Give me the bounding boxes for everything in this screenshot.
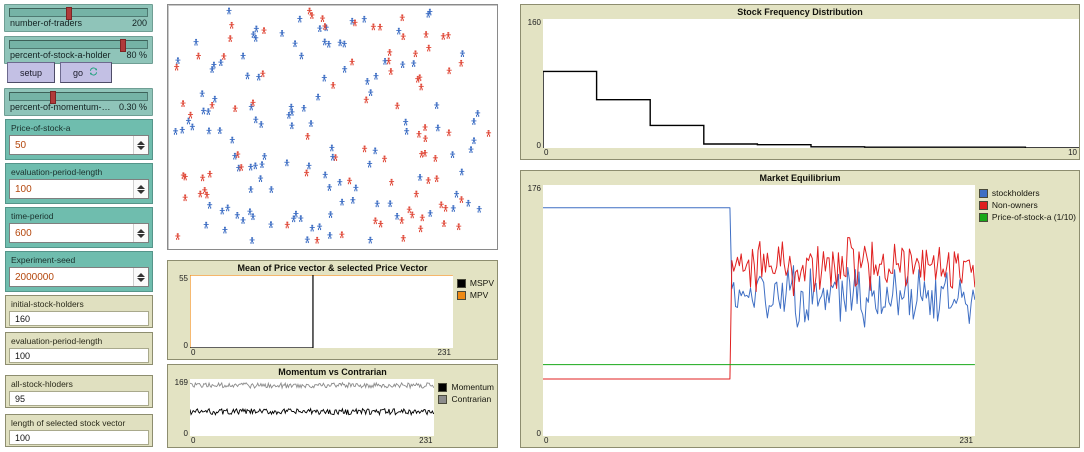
- legend-label: Momentum: [451, 382, 494, 392]
- x-axis-min: 0: [544, 436, 548, 445]
- input-label: evaluation-period-length: [9, 166, 149, 179]
- slider-number-of-traders[interactable]: number-of-traders 200: [4, 4, 153, 32]
- y-axis-labels: 55 0: [168, 275, 190, 348]
- slider-thumb[interactable]: [50, 91, 56, 104]
- go-button-label: go: [73, 68, 83, 78]
- y-axis-labels: 169 0: [168, 379, 190, 436]
- spinner-control[interactable]: [133, 180, 148, 198]
- input-field[interactable]: 50: [9, 135, 149, 155]
- y-axis-labels: 160 0: [521, 19, 543, 148]
- legend-swatch: [979, 213, 988, 222]
- spinner-up-icon[interactable]: [137, 185, 145, 189]
- legend-label: stockholders: [992, 188, 1040, 198]
- y-axis-min: 0: [537, 429, 541, 438]
- input-experiment-seed[interactable]: Experiment-seed 2000000: [5, 251, 153, 292]
- spinner-down-icon[interactable]: [137, 278, 145, 282]
- x-axis-max: 231: [419, 436, 432, 445]
- y-axis-max: 55: [179, 274, 188, 283]
- plot-canvas: [543, 185, 975, 436]
- slider-thumb[interactable]: [120, 39, 126, 52]
- plot-momentum-vs-contrarian: Momentum vs Contrarian 169 0 0 231: [167, 364, 498, 448]
- y-axis-labels: 176 0: [521, 185, 543, 436]
- legend-swatch: [457, 279, 466, 288]
- plot-legend: MSPV MPV: [453, 275, 497, 359]
- legend-item: Contrarian: [438, 394, 494, 404]
- spinner-control[interactable]: [133, 136, 148, 154]
- x-axis-max: 231: [438, 348, 451, 357]
- legend-item: MPV: [457, 290, 494, 300]
- x-axis-max: 231: [960, 436, 973, 445]
- spinner-down-icon[interactable]: [137, 190, 145, 194]
- monitor-label: all-stock-hloders: [9, 378, 149, 391]
- setup-button-label: setup: [20, 68, 42, 78]
- netlogo-model-interface: number-of-traders 200 percent-of-stock-a…: [0, 0, 1084, 452]
- input-label: Experiment-seed: [9, 254, 149, 267]
- forever-loop-icon: [88, 66, 99, 79]
- x-axis-labels: 0 10: [543, 148, 1079, 159]
- plot-canvas: [190, 275, 453, 348]
- input-label: time-period: [9, 210, 149, 223]
- slider-value: 200: [128, 18, 147, 28]
- y-axis-min: 0: [537, 141, 541, 150]
- spinner-control[interactable]: [133, 224, 148, 242]
- plot-title: Momentum vs Contrarian: [168, 365, 497, 379]
- spinner-up-icon[interactable]: [137, 273, 145, 277]
- slider-percent-of-momentum-per[interactable]: percent-of-momentum-per... 0.30 %: [4, 88, 153, 116]
- legend-label: Price-of-stock-a (1/10): [992, 212, 1076, 222]
- slider-track[interactable]: [9, 8, 148, 17]
- legend-swatch: [438, 383, 447, 392]
- monitor-length-of-selected-stock-vector: length of selected stock vector 100: [5, 414, 153, 447]
- x-axis-min: 0: [191, 436, 195, 445]
- setup-button[interactable]: setup: [7, 62, 55, 83]
- monitor-value: 100: [9, 348, 149, 363]
- legend-label: MSPV: [470, 278, 494, 288]
- x-axis-max: 10: [1068, 148, 1077, 157]
- legend-swatch: [438, 395, 447, 404]
- agent-world-view[interactable]: [167, 4, 498, 250]
- slider-thumb[interactable]: [66, 7, 72, 20]
- plot-canvas: [543, 19, 1079, 148]
- legend-swatch: [457, 291, 466, 300]
- input-value: 600: [10, 228, 133, 239]
- input-field[interactable]: 600: [9, 223, 149, 243]
- slider-label: percent-of-stock-a-holder: [10, 50, 111, 60]
- slider-track[interactable]: [9, 92, 148, 101]
- go-button[interactable]: go: [60, 62, 112, 83]
- y-axis-min: 0: [184, 429, 188, 438]
- input-value: 2000000: [10, 272, 133, 283]
- slider-label: percent-of-momentum-per...: [10, 102, 115, 112]
- plot-title: Market Equilibrium: [521, 171, 1079, 185]
- spinner-down-icon[interactable]: [137, 146, 145, 150]
- monitor-value: 100: [9, 430, 149, 445]
- input-value: 50: [10, 140, 133, 151]
- monitor-evaluation-period-length: evaluation-period-length 100: [5, 332, 153, 365]
- spinner-control[interactable]: [133, 268, 148, 286]
- plot-legend: stockholders Non-owners Price-of-stock-a…: [975, 185, 1079, 447]
- input-field[interactable]: 2000000: [9, 267, 149, 287]
- x-axis-min: 0: [544, 148, 548, 157]
- monitor-label: evaluation-period-length: [9, 335, 149, 348]
- plot-canvas: [190, 379, 434, 436]
- input-label: Price-of-stock-a: [9, 122, 149, 135]
- x-axis-labels: 0 231: [543, 436, 975, 447]
- x-axis-min: 0: [191, 348, 195, 357]
- input-time-period[interactable]: time-period 600: [5, 207, 153, 248]
- y-axis-min: 0: [184, 341, 188, 350]
- plot-stock-frequency-distribution: Stock Frequency Distribution 160 0 0 10: [520, 4, 1080, 160]
- input-value: 100: [10, 184, 133, 195]
- legend-swatch: [979, 201, 988, 210]
- input-evaluation-period-length[interactable]: evaluation-period-length 100: [5, 163, 153, 204]
- slider-value: 0.30 %: [115, 102, 147, 112]
- input-field[interactable]: 100: [9, 179, 149, 199]
- legend-label: Contrarian: [451, 394, 491, 404]
- slider-percent-of-stock-a-holder[interactable]: percent-of-stock-a-holder 80 %: [4, 36, 153, 64]
- legend-label: Non-owners: [992, 200, 1038, 210]
- y-axis-max: 176: [528, 184, 541, 193]
- input-price-of-stock-a[interactable]: Price-of-stock-a 50: [5, 119, 153, 160]
- x-axis-labels: 0 231: [190, 348, 453, 359]
- monitor-label: length of selected stock vector: [9, 417, 149, 430]
- plot-mean-of-price-vector: Mean of Price vector & selected Price Ve…: [167, 260, 498, 360]
- monitor-initial-stock-holders: initial-stock-holders 160: [5, 295, 153, 328]
- legend-item: Non-owners: [979, 200, 1076, 210]
- y-axis-max: 169: [175, 378, 188, 387]
- spinner-down-icon[interactable]: [137, 234, 145, 238]
- legend-item: MSPV: [457, 278, 494, 288]
- slider-track[interactable]: [9, 40, 148, 49]
- monitor-value: 95: [9, 391, 149, 406]
- monitor-label: initial-stock-holders: [9, 298, 149, 311]
- spinner-up-icon[interactable]: [137, 141, 145, 145]
- monitor-all-stock-hloders: all-stock-hloders 95: [5, 375, 153, 408]
- spinner-up-icon[interactable]: [137, 229, 145, 233]
- monitor-value: 160: [9, 311, 149, 326]
- legend-label: MPV: [470, 290, 488, 300]
- slider-value: 80 %: [122, 50, 147, 60]
- plot-title: Stock Frequency Distribution: [521, 5, 1079, 19]
- x-axis-labels: 0 231: [190, 436, 434, 447]
- y-axis-max: 160: [528, 18, 541, 27]
- plot-title: Mean of Price vector & selected Price Ve…: [168, 261, 497, 275]
- legend-item: Momentum: [438, 382, 494, 392]
- legend-item: Price-of-stock-a (1/10): [979, 212, 1076, 222]
- legend-item: stockholders: [979, 188, 1076, 198]
- world-canvas: [168, 5, 497, 249]
- plot-market-equilibrium: Market Equilibrium 176 0 0 231: [520, 170, 1080, 448]
- plot-legend: Momentum Contrarian: [434, 379, 497, 447]
- legend-swatch: [979, 189, 988, 198]
